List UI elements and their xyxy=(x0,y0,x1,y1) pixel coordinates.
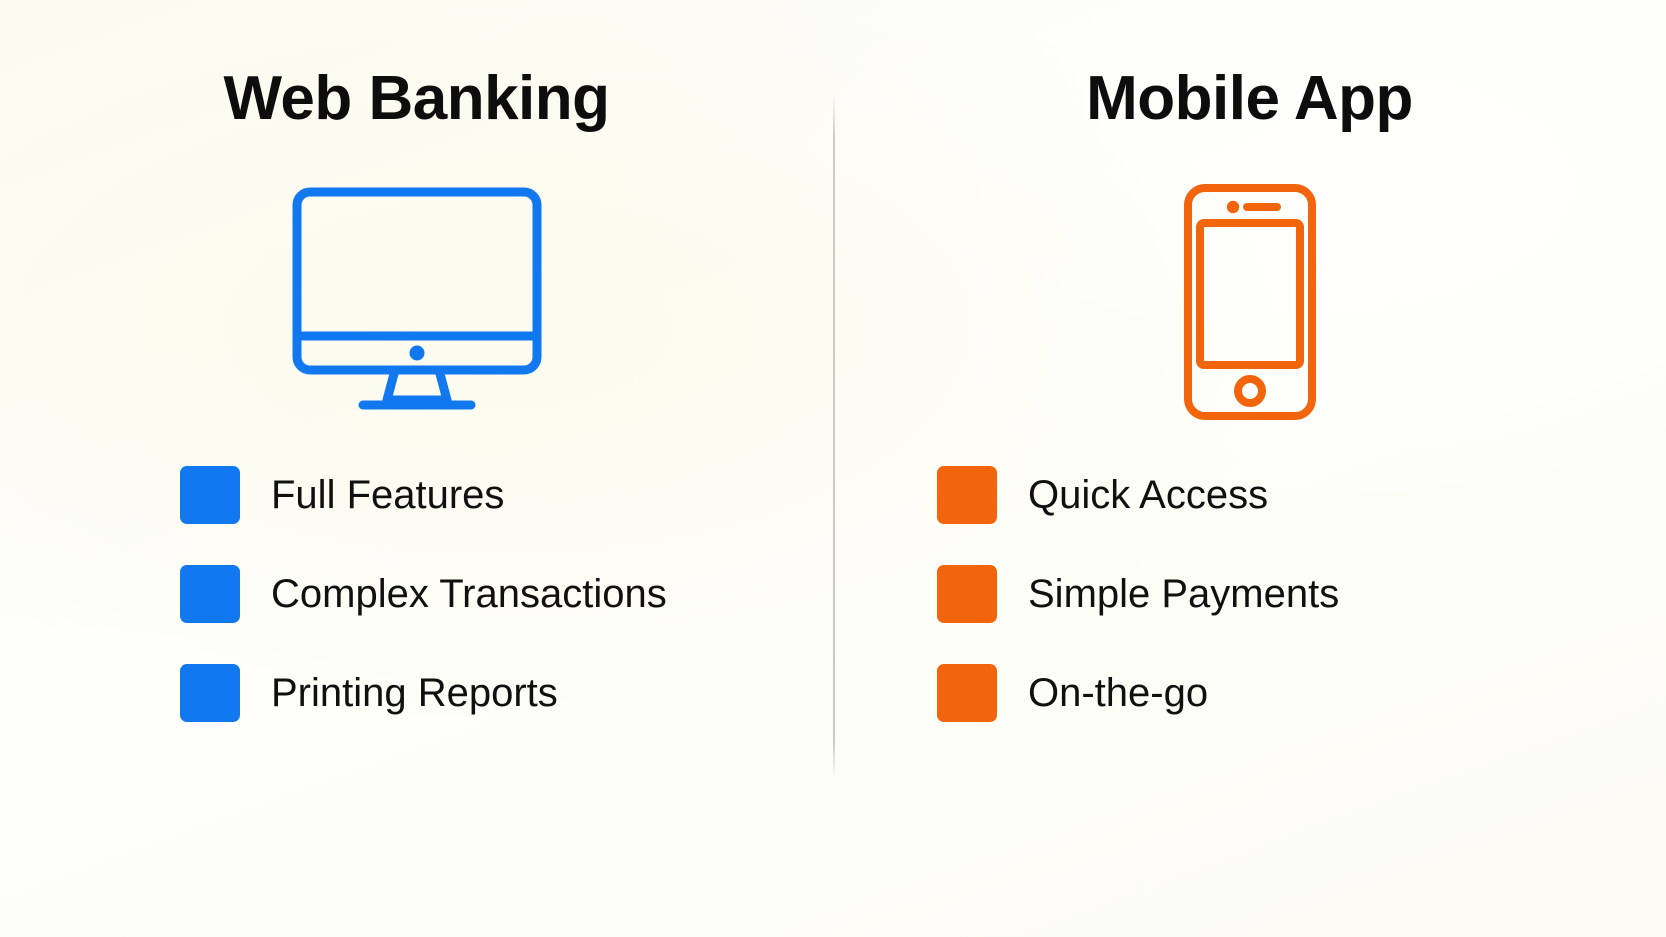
bullet-swatch-icon xyxy=(937,466,997,524)
feature-row-printing-reports[interactable]: Printing Reports xyxy=(180,664,667,722)
column-web-banking: Web Banking Full Features xyxy=(0,0,833,937)
feature-label: Quick Access xyxy=(1028,474,1268,516)
feature-label: Printing Reports xyxy=(271,672,558,714)
feature-label: Complex Transactions xyxy=(271,573,667,615)
feature-row-complex-transactions[interactable]: Complex Transactions xyxy=(180,565,667,623)
feature-label: On-the-go xyxy=(1028,672,1208,714)
desktop-monitor-icon xyxy=(291,186,543,418)
column-title-web-banking: Web Banking xyxy=(223,68,609,130)
comparison-infographic: Web Banking Full Features xyxy=(0,0,1666,937)
monitor-power-dot-icon xyxy=(409,346,424,361)
bullet-swatch-icon xyxy=(937,565,997,623)
column-title-mobile-app: Mobile App xyxy=(1086,68,1413,130)
bullet-swatch-icon xyxy=(937,664,997,722)
feature-row-on-the-go[interactable]: On-the-go xyxy=(937,664,1339,722)
smartphone-icon xyxy=(1183,183,1317,421)
bullet-swatch-icon xyxy=(180,466,240,524)
feature-label: Simple Payments xyxy=(1028,573,1339,615)
feature-label: Full Features xyxy=(271,474,504,516)
feature-list-web-banking: Full Features Complex Transactions Print… xyxy=(180,466,667,722)
feature-row-simple-payments[interactable]: Simple Payments xyxy=(937,565,1339,623)
column-divider xyxy=(833,96,835,780)
feature-list-mobile-app: Quick Access Simple Payments On-the-go xyxy=(937,466,1339,722)
smartphone-icon-wrap xyxy=(1183,182,1317,422)
feature-row-quick-access[interactable]: Quick Access xyxy=(937,466,1339,524)
bullet-swatch-icon xyxy=(180,565,240,623)
desktop-monitor-icon-wrap xyxy=(291,182,543,422)
column-mobile-app: Mobile App Quick Access xyxy=(833,0,1666,937)
bullet-swatch-icon xyxy=(180,664,240,722)
feature-row-full-features[interactable]: Full Features xyxy=(180,466,667,524)
